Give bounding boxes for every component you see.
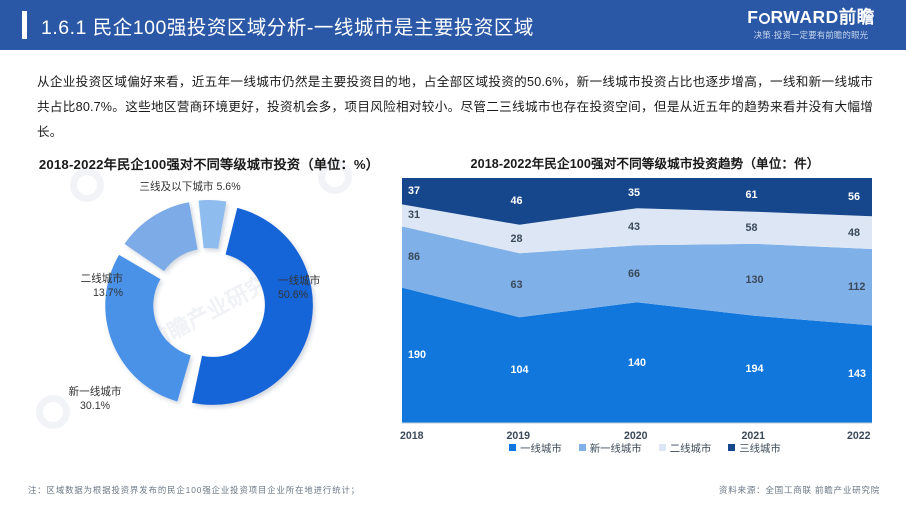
area-value-新一线城市-2019: 63: [511, 279, 523, 291]
area-value-一线城市-2018: 190: [408, 349, 426, 361]
pie-label-tier2-text: 二线城市: [20, 272, 123, 286]
area-value-三线城市-2018: 37: [408, 185, 420, 197]
pie-label-tier2-value: 13.7%: [20, 286, 123, 300]
slide-header: 1.6.1 民企100强投资区域分析-一线城市是主要投资区域 FRWARD前瞻 …: [0, 0, 906, 50]
area-value-一线城市-2021: 194: [746, 363, 764, 375]
logo-ring-icon: [759, 13, 770, 24]
legend-swatch-icon: [728, 444, 735, 451]
area-value-三线城市-2019: 46: [511, 195, 523, 207]
legend-label: 三线城市: [739, 440, 781, 455]
donut-slice-二线城市: [125, 202, 198, 271]
area-value-二线城市-2021: 58: [746, 222, 758, 234]
area-value-新一线城市-2018: 86: [408, 251, 420, 263]
area-value-一线城市-2022: 143: [848, 368, 866, 380]
pie-chart-title: 2018-2022年民企100强对不同等级城市投资（单位：%）: [20, 155, 398, 174]
legend-label: 二线城市: [670, 440, 712, 455]
area-value-一线城市-2020: 140: [628, 357, 646, 369]
pie-label-newtier1-value: 30.1%: [30, 399, 160, 413]
page-title: 1.6.1 民企100强投资区域分析-一线城市是主要投资区域: [41, 11, 534, 40]
legend-swatch-icon: [659, 444, 666, 451]
pie-label-tier1-text: 一线城市: [278, 274, 388, 288]
area-value-二线城市-2022: 48: [848, 227, 860, 239]
footer-source: 资料来源：全国工商联 前瞻产业研究院: [719, 484, 880, 496]
legend-swatch-icon: [579, 444, 586, 451]
body-paragraph: 从企业投资区域偏好来看，近五年一线城市仍然是主要投资目的地，占全部区域投资的50…: [37, 70, 873, 145]
donut-chart: 三线及以下城市 5.6% 一线城市 50.6% 二线城市 13.7% 新一线城市…: [20, 180, 398, 430]
slide-page: 1.6.1 民企100强投资区域分析-一线城市是主要投资区域 FRWARD前瞻 …: [0, 0, 906, 505]
area-value-新一线城市-2021: 130: [746, 274, 764, 286]
area-value-三线城市-2021: 61: [746, 189, 758, 201]
logo-rest-text: RWARD前瞻: [770, 7, 874, 27]
area-value-二线城市-2020: 43: [628, 221, 640, 233]
pie-label-tier1: 一线城市 50.6%: [278, 274, 388, 302]
area-chart-panel: 2018-2022年民企100强对不同等级城市投资趋势（单位：件） 190104…: [402, 155, 888, 475]
area-chart-legend: 一线城市新一线城市二线城市三线城市: [402, 440, 888, 455]
pie-label-tier2: 二线城市 13.7%: [20, 272, 123, 300]
legend-item-三线城市[interactable]: 三线城市: [728, 440, 781, 455]
brand-tagline: 决策·投资一定要有前瞻的眼光: [732, 29, 890, 41]
brand-logo: FRWARD前瞻 决策·投资一定要有前瞻的眼光: [732, 6, 890, 41]
area-value-二线城市-2019: 28: [511, 233, 523, 245]
legend-swatch-icon: [509, 444, 516, 451]
area-value-一线城市-2019: 104: [511, 364, 529, 376]
area-value-三线城市-2020: 35: [628, 187, 640, 199]
legend-label: 新一线城市: [590, 440, 642, 455]
brand-logo-text: FRWARD前瞻: [732, 6, 890, 28]
area-value-新一线城市-2020: 66: [628, 268, 640, 280]
area-svg: [402, 178, 888, 438]
legend-item-一线城市[interactable]: 一线城市: [509, 440, 562, 455]
area-value-二线城市-2018: 31: [408, 209, 420, 221]
pie-label-tier3-value: 5.6%: [216, 181, 240, 193]
area-value-新一线城市-2022: 112: [848, 281, 865, 293]
legend-label: 一线城市: [520, 440, 562, 455]
area-value-三线城市-2022: 56: [848, 191, 860, 203]
pie-label-newtier1-text: 新一线城市: [30, 385, 160, 399]
footer-note: 注：区域数据为根据投资界发布的民企100强企业投资项目企业所在地进行统计；: [28, 484, 360, 496]
pie-label-tier3: 三线及以下城市 5.6%: [90, 180, 290, 194]
pie-label-newtier1: 新一线城市 30.1%: [30, 385, 160, 413]
pie-label-tier3-text: 三线及以下城市: [139, 181, 213, 193]
area-chart: 1901041401941438663661301123128435848374…: [402, 178, 888, 468]
legend-item-新一线城市[interactable]: 新一线城市: [579, 440, 642, 455]
donut-slice-三线及以下城市: [199, 200, 227, 249]
logo-f-letter: F: [747, 7, 758, 27]
header-accent-bar: [22, 11, 27, 39]
pie-label-tier1-value: 50.6%: [278, 288, 388, 302]
legend-item-二线城市[interactable]: 二线城市: [659, 440, 712, 455]
pie-chart-panel: 2018-2022年民企100强对不同等级城市投资（单位：%） 三线及以下城市 …: [20, 155, 398, 455]
area-chart-title: 2018-2022年民企100强对不同等级城市投资趋势（单位：件）: [402, 155, 888, 173]
